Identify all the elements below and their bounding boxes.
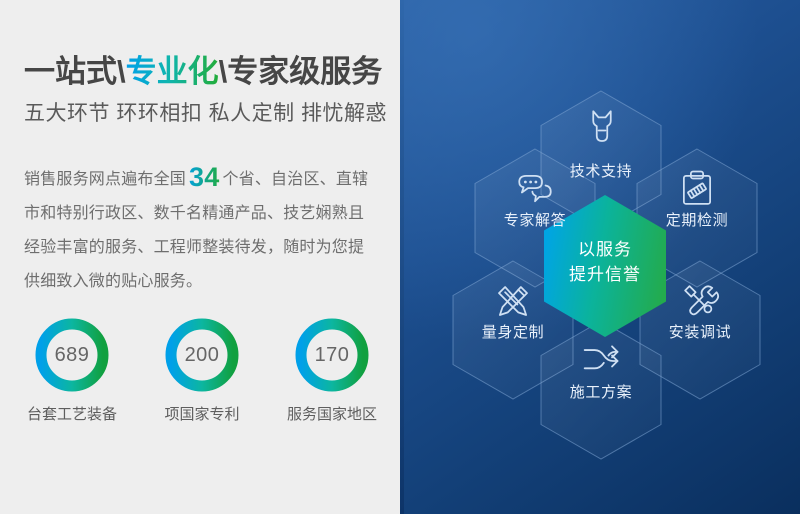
stat-label: 台套工艺装备 <box>27 403 117 424</box>
page-title: 一站式\专业化\专家级服务 <box>24 56 382 87</box>
chat-bubbles-icon <box>514 168 556 210</box>
center-hexagon-text: 以服务 提升信誉 <box>569 237 641 287</box>
hex-diagram-panel: 技术支持 专家解答 定期检测 量身定制 安装调试 施工方案 以服务 提升信誉 <box>400 0 800 514</box>
stat-value: 689 <box>35 318 109 392</box>
stat-ring: 689 <box>35 318 109 392</box>
stat-value: 170 <box>295 318 369 392</box>
left-info-panel: 一站式\专业化\专家级服务 五大环节 环环相扣 私人定制 排忧解惑 销售服务网点… <box>0 0 400 514</box>
hex-label-tailor-made[interactable]: 量身定制 <box>482 321 544 342</box>
stat-ring: 170 <box>295 318 369 392</box>
hex-label-technical-support[interactable]: 技术支持 <box>570 160 632 181</box>
center-text-line-2: 提升信誉 <box>569 262 641 287</box>
stats-row: 689 台套工艺装备 <box>24 318 380 424</box>
description-before-number: 销售服务网点遍布全国 <box>24 171 186 188</box>
headline-part-1: 一站式 <box>24 54 117 89</box>
province-count: 34 <box>186 162 222 192</box>
stat-label: 服务国家地区 <box>287 403 377 424</box>
stat-item: 689 台套工艺装备 <box>24 318 120 424</box>
page-subtitle: 五大环节 环环相扣 私人定制 排忧解惑 <box>24 103 387 124</box>
wrench-icon <box>581 106 623 148</box>
stat-ring: 200 <box>165 318 239 392</box>
headline-slash-2: \ <box>219 54 228 89</box>
stat-label: 项国家专利 <box>164 403 239 424</box>
center-text-line-1: 以服务 <box>569 237 641 262</box>
clipboard-icon <box>677 168 717 210</box>
stat-item: 170 服务国家地区 <box>284 318 380 424</box>
hex-label-installation-debug[interactable]: 安装调试 <box>669 321 731 342</box>
headline-slash-1: \ <box>117 54 126 89</box>
shuffle-arrows-icon <box>580 340 624 382</box>
hex-label-regular-inspection[interactable]: 定期检测 <box>666 209 728 230</box>
stat-value: 200 <box>165 318 239 392</box>
hexagon-field: 技术支持 专家解答 定期检测 量身定制 安装调试 施工方案 以服务 提升信誉 <box>400 0 800 514</box>
promo-banner: 一站式\专业化\专家级服务 五大环节 环环相扣 私人定制 排忧解惑 销售服务网点… <box>0 0 800 514</box>
hex-label-expert-answers[interactable]: 专家解答 <box>504 209 566 230</box>
stat-item: 200 项国家专利 <box>154 318 250 424</box>
hex-label-construction-plan[interactable]: 施工方案 <box>570 381 632 402</box>
headline-highlight: 专业化 <box>126 54 219 89</box>
description-paragraph: 销售服务网点遍布全国34个省、自治区、直辖市和特别行政区、数千名精通产品、技艺娴… <box>24 160 380 299</box>
pencil-ruler-icon <box>492 280 534 322</box>
screwdriver-wrench-icon <box>679 280 721 322</box>
headline-part-2: 专家级服务 <box>227 54 382 89</box>
